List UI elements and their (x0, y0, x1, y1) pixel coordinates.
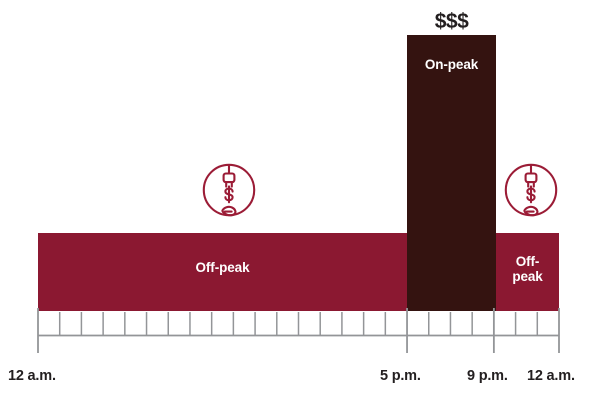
bar-onpeak-label: On-peak (407, 57, 496, 72)
axis-label-5pm: 5 p.m. (380, 368, 421, 384)
axis-label-9pm: 9 p.m. (467, 368, 508, 384)
bar-offpeak-early-label: Off-peak (38, 260, 407, 275)
axis-label-12am-end: 12 a.m. (527, 368, 575, 384)
peak-price-annotation: $$$ (407, 10, 496, 34)
axis-tick-group (38, 308, 559, 353)
plug-dollar-leaf-icon (198, 146, 260, 222)
bar-offpeak-late-label: Off- peak (496, 254, 559, 284)
bar-onpeak: On-peak (407, 35, 496, 311)
bar-offpeak-late-label-line1: Off- (516, 254, 540, 269)
plug-dollar-leaf-icon (500, 146, 562, 222)
time-of-use-rate-chart: $$$ Off-peak On-peak Off- peak (0, 0, 600, 407)
time-axis (0, 300, 600, 360)
bar-offpeak-late-label-line2: peak (512, 269, 542, 284)
axis-label-12am-start: 12 a.m. (8, 368, 56, 384)
